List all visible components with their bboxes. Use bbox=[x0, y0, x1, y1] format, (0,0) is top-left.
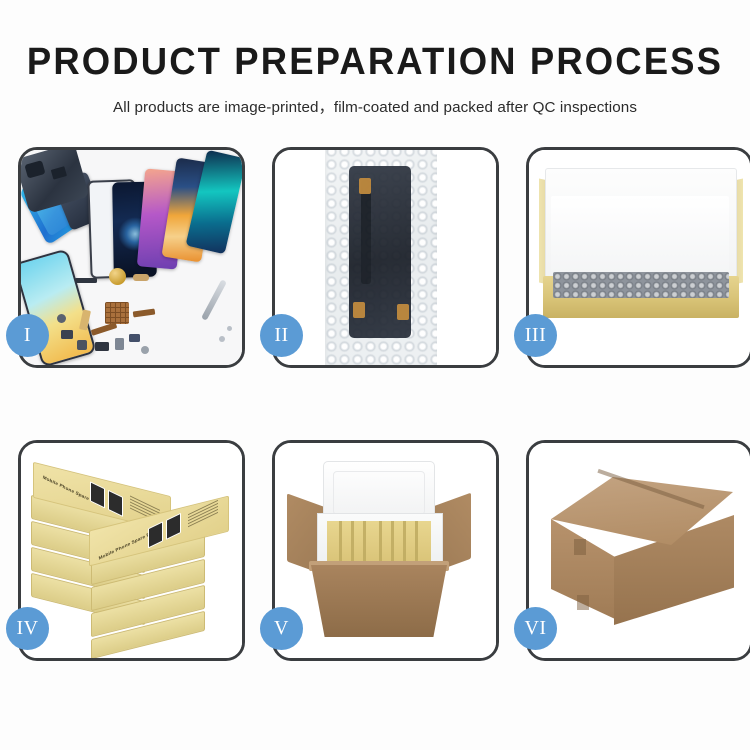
page-subtitle: All products are image-printed，film-coat… bbox=[0, 95, 750, 117]
screw-part bbox=[141, 346, 149, 354]
shield-plate-part bbox=[95, 342, 109, 351]
box-window-1b bbox=[108, 490, 123, 517]
step-badge-5: V bbox=[260, 607, 303, 650]
box-spec-lines-2 bbox=[188, 500, 218, 529]
step-5-image bbox=[275, 443, 496, 658]
phone-parts-scene bbox=[21, 150, 242, 365]
carton-tape-lower bbox=[577, 595, 589, 610]
foam-sheet bbox=[551, 196, 729, 274]
flex-tab-right bbox=[397, 304, 409, 320]
step-2-image bbox=[275, 150, 496, 365]
speaker-module-icon bbox=[109, 268, 126, 285]
carton-tape-upper bbox=[574, 539, 586, 555]
step-6-image bbox=[529, 443, 750, 658]
header: PRODUCT PREPARATION PROCESS All products… bbox=[0, 0, 750, 117]
carton-body bbox=[311, 565, 447, 637]
box-window-2a bbox=[148, 521, 163, 548]
box-window-1a bbox=[90, 481, 105, 508]
page-title: PRODUCT PREPARATION PROCESS bbox=[15, 43, 735, 81]
process-grid: I II bbox=[0, 147, 750, 733]
sim-tray-part bbox=[129, 334, 140, 342]
step-1-image bbox=[21, 150, 242, 365]
step-badge-1: I bbox=[6, 314, 49, 357]
antenna-part bbox=[115, 338, 124, 350]
infographic-page: PRODUCT PREPARATION PROCESS All products… bbox=[0, 0, 750, 750]
step-panel-2[interactable]: II bbox=[272, 147, 499, 368]
step-panel-1[interactable]: I bbox=[18, 147, 245, 368]
flex-tab-top bbox=[359, 178, 371, 194]
step-4-image: Mobile Phone Spare Parts Mobile Phone Sp… bbox=[21, 443, 242, 658]
connector-part bbox=[133, 274, 149, 281]
step-badge-6: VI bbox=[514, 607, 557, 650]
step-badge-2: II bbox=[260, 314, 303, 357]
bubble-wrap-bag bbox=[325, 150, 437, 365]
flex-strip-part bbox=[133, 308, 156, 317]
chip-board bbox=[105, 302, 129, 324]
bubble-wrap-scene bbox=[275, 150, 496, 365]
process-row-1: I II bbox=[0, 147, 750, 368]
step-panel-5[interactable]: V bbox=[272, 440, 499, 661]
loaded-yellow-boxes bbox=[327, 521, 431, 565]
step-panel-4[interactable]: Mobile Phone Spare Parts Mobile Phone Sp… bbox=[18, 440, 245, 661]
screw-small-2 bbox=[227, 326, 232, 331]
sealed-carton-scene bbox=[529, 443, 750, 658]
screwdriver-icon bbox=[201, 279, 227, 321]
carton-loading-scene bbox=[275, 443, 496, 658]
camera-module-part bbox=[61, 330, 73, 339]
box-window-2b bbox=[166, 513, 181, 540]
flex-cable-part bbox=[75, 278, 97, 283]
screw-small-1 bbox=[219, 336, 225, 342]
step-badge-3: III bbox=[514, 314, 557, 357]
button-part bbox=[77, 340, 87, 350]
stacked-boxes-scene: Mobile Phone Spare Parts Mobile Phone Sp… bbox=[21, 443, 242, 658]
inner-box-scene bbox=[529, 150, 750, 365]
bubble-padding-layer bbox=[553, 272, 729, 298]
flex-tab-left bbox=[353, 302, 365, 318]
ribbon-cable-part bbox=[91, 322, 118, 336]
step-panel-6[interactable]: VI bbox=[526, 440, 750, 661]
step-panel-3[interactable]: III bbox=[526, 147, 750, 368]
process-row-2: Mobile Phone Spare Parts Mobile Phone Sp… bbox=[0, 440, 750, 661]
vibrator-part bbox=[57, 314, 66, 323]
step-badge-4: IV bbox=[6, 607, 49, 650]
step-3-image bbox=[529, 150, 750, 365]
